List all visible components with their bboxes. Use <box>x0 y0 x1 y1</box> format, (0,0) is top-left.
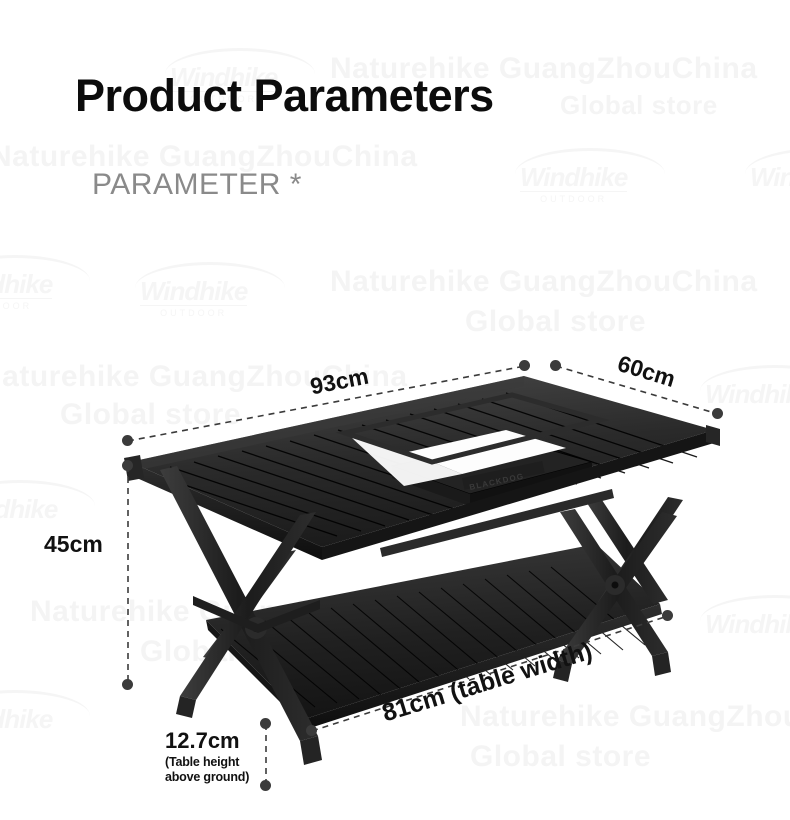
dimension-endpoint-dot <box>122 435 133 446</box>
dimension-endpoint-dot <box>122 460 133 471</box>
clearance-value: 12.7cm <box>165 728 240 753</box>
dimension-endpoint-dot <box>662 610 673 621</box>
clearance-note-line2: above ground) <box>165 770 249 784</box>
dimension-label-clearance: 12.7cm (Table height above ground) <box>165 728 249 785</box>
clearance-note-line1: (Table height <box>165 755 249 769</box>
dimension-label-height: 45cm <box>44 531 103 558</box>
dimension-endpoint-dot <box>519 360 530 371</box>
dimension-endpoint-dot <box>260 718 271 729</box>
dimension-endpoint-dot <box>712 408 723 419</box>
product-parameters-page: Naturehike GuangZhouChina Naturehike Gua… <box>0 0 790 820</box>
dimension-endpoint-dot <box>550 360 561 371</box>
dimension-endpoint-dot <box>306 725 317 736</box>
dimension-endpoint-dot <box>260 780 271 791</box>
dimension-endpoint-dot <box>122 679 133 690</box>
